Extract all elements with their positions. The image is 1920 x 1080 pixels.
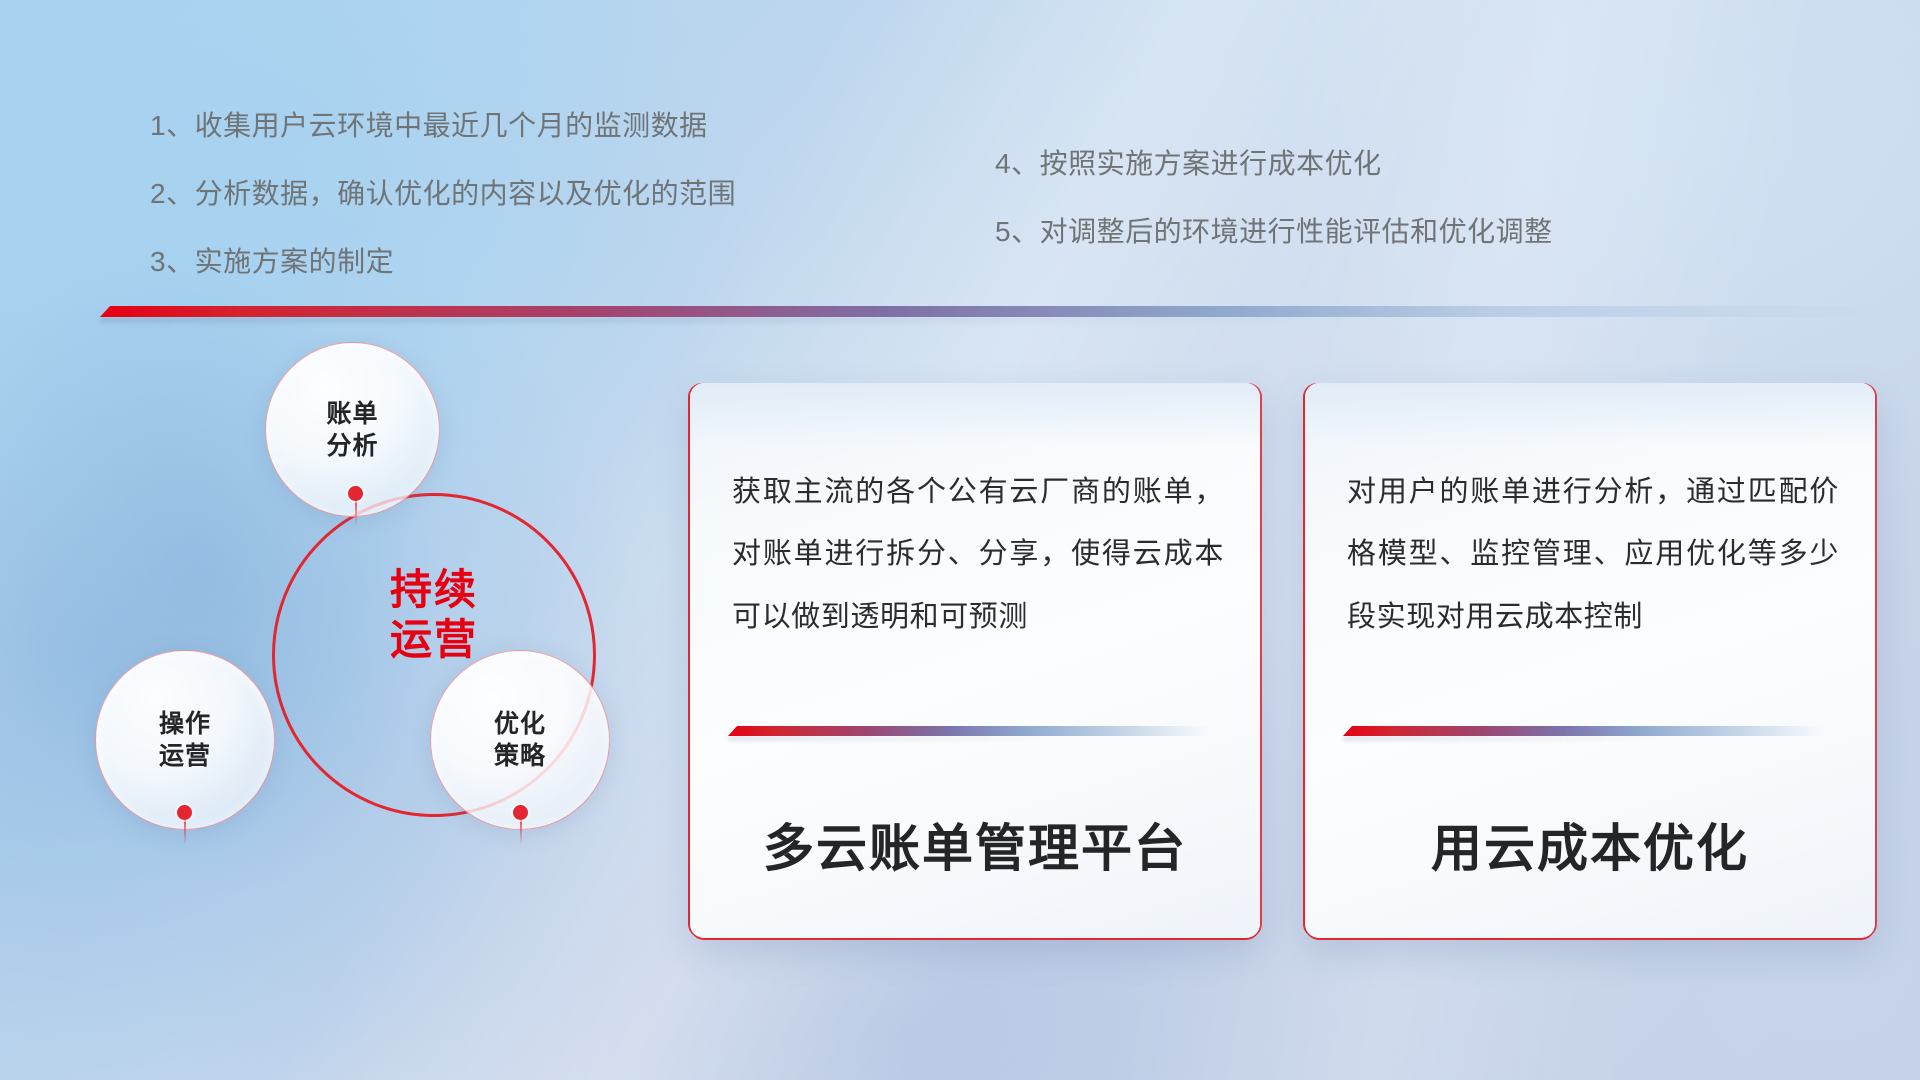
diagram-node-label: 分析 (326, 430, 378, 462)
card-description: 对用户的账单进行分析，通过匹配价格模型、监控管理、应用优化等多少段实现对用云成本… (1347, 461, 1839, 648)
diagram-node-operations[interactable]: 操作 运营 (95, 650, 275, 830)
bullet-item: 4、按照实施方案进行成本优化 (995, 150, 1553, 178)
diagram-center-label: 持续 运营 (272, 565, 596, 664)
bullet-item: 1、收集用户云环境中最近几个月的监测数据 (150, 112, 736, 140)
card-top-fade (1305, 383, 1875, 447)
diagram-node-label: 操作 (159, 708, 211, 740)
bullet-item: 2、分析数据，确认优化的内容以及优化的范围 (150, 180, 736, 208)
bullet-column-left: 1、收集用户云环境中最近几个月的监测数据 2、分析数据，确认优化的内容以及优化的… (150, 112, 736, 316)
diagram-node-tail (355, 500, 357, 526)
bullet-item: 3、实施方案的制定 (150, 248, 736, 276)
cycle-diagram: 持续 运营 账单 分析 操作 运营 优化 策略 (95, 350, 655, 950)
card-title: 多云账单管理平台 (690, 807, 1260, 881)
card-accent-line (728, 726, 1208, 736)
card-title: 用云成本优化 (1305, 807, 1875, 881)
card-accent-shadow (728, 736, 1208, 741)
diagram-node-optimization-strategy[interactable]: 优化 策略 (430, 650, 610, 830)
diagram-node-tail (520, 819, 522, 845)
bullet-item: 5、对调整后的环境进行性能评估和优化调整 (995, 218, 1553, 246)
feature-card-multicloud-billing[interactable]: 获取主流的各个公有云厂商的账单，对账单进行拆分、分享，使得云成本可以做到透明和可… (690, 383, 1260, 938)
card-accent-line (1343, 726, 1823, 736)
diagram-node-dot (513, 805, 528, 820)
card-top-fade (690, 383, 1260, 447)
diagram-node-label: 策略 (494, 740, 546, 772)
diagram-node-label: 账单 (326, 398, 378, 430)
card-accent-shadow (1343, 736, 1823, 741)
section-divider-shadow (100, 317, 1885, 323)
diagram-node-label: 优化 (494, 708, 546, 740)
feature-card-cloud-cost-optimization[interactable]: 对用户的账单进行分析，通过匹配价格模型、监控管理、应用优化等多少段实现对用云成本… (1305, 383, 1875, 938)
diagram-node-tail (184, 819, 186, 845)
card-description: 获取主流的各个公有云厂商的账单，对账单进行拆分、分享，使得云成本可以做到透明和可… (732, 461, 1224, 648)
bullet-list-section: 1、收集用户云环境中最近几个月的监测数据 2、分析数据，确认优化的内容以及优化的… (0, 0, 1920, 300)
section-divider (100, 306, 1885, 317)
diagram-node-dot (348, 486, 363, 501)
diagram-center-label-line1: 持续 (272, 565, 596, 615)
bullet-column-right: 4、按照实施方案进行成本优化 5、对调整后的环境进行性能评估和优化调整 (995, 150, 1553, 286)
diagram-node-label: 运营 (159, 740, 211, 772)
diagram-node-dot (177, 805, 192, 820)
